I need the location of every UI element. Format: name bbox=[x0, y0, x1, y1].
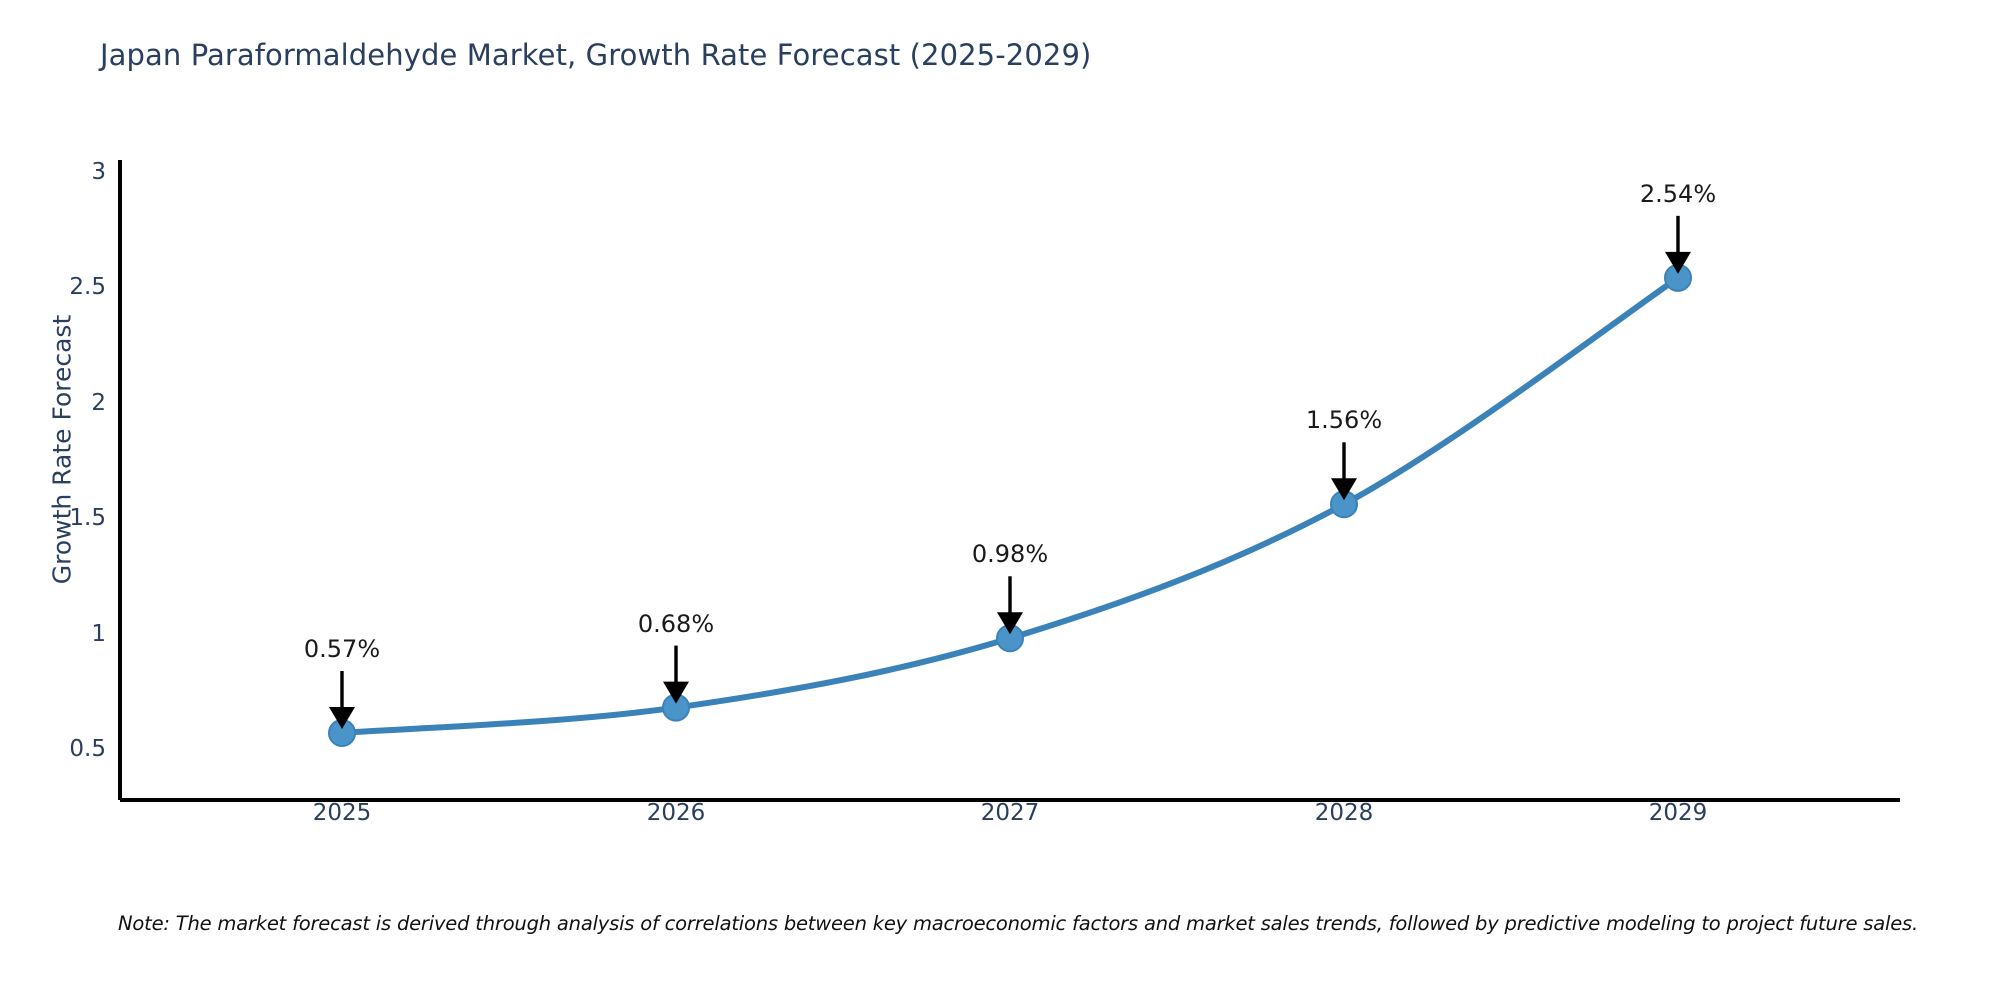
data-point-label: 0.98% bbox=[972, 540, 1048, 568]
annotation-arrow bbox=[1665, 216, 1691, 274]
annotation-arrow bbox=[1331, 442, 1357, 500]
data-point-markers bbox=[329, 265, 1691, 746]
plot-area bbox=[0, 0, 2000, 1000]
annotation-arrow bbox=[663, 646, 689, 704]
chart-container: Japan Paraformaldehyde Market, Growth Ra… bbox=[0, 0, 2000, 1000]
data-point-label: 0.57% bbox=[304, 635, 380, 663]
data-series-line bbox=[342, 278, 1678, 733]
data-point-label: 1.56% bbox=[1306, 406, 1382, 434]
data-point-label: 0.68% bbox=[638, 610, 714, 638]
annotation-arrow bbox=[329, 671, 355, 729]
data-point-label: 2.54% bbox=[1640, 180, 1716, 208]
chart-note: Note: The market forecast is derived thr… bbox=[118, 912, 1918, 935]
annotation-arrow bbox=[997, 576, 1023, 634]
